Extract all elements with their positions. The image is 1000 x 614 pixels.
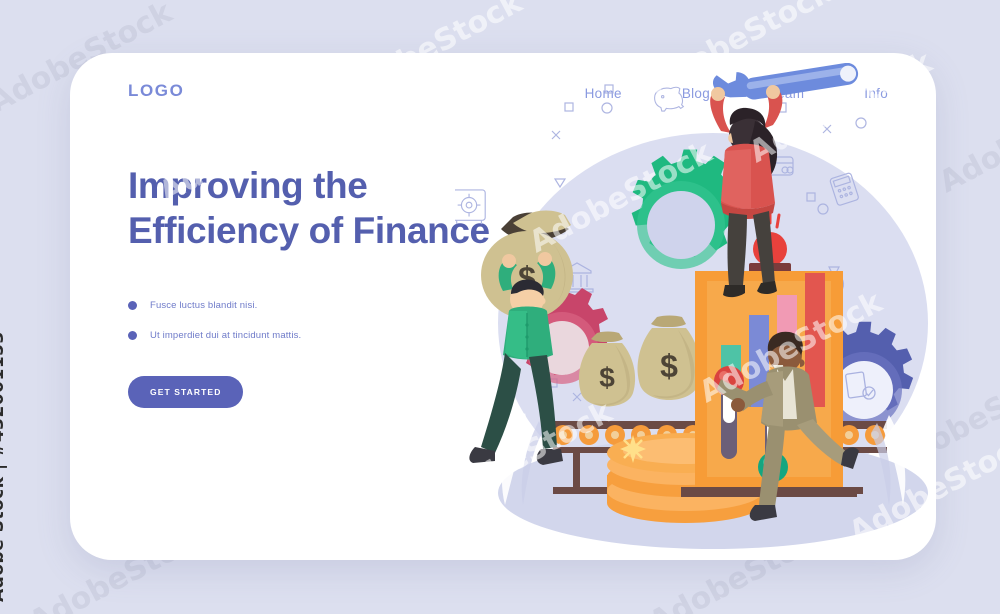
bullet-text: Fusce luctus blandit nisi.: [150, 300, 257, 311]
screenshot-canvas: AdobeStock AdobeStock AdobeStock AdobeSt…: [0, 0, 1000, 614]
bullet-dot-icon: [128, 331, 137, 340]
safe-box-icon: [455, 190, 485, 224]
page-title-line-2: Efficiency of Finance: [128, 210, 490, 251]
stock-watermark-id: Adobe Stock | #432001153: [0, 331, 8, 602]
svg-text:$: $: [660, 348, 678, 384]
page-title-line-1: Improving the: [128, 165, 367, 206]
get-started-button[interactable]: GET STARTED: [128, 376, 243, 408]
watermark-tile: AdobeStock: [934, 75, 1000, 200]
blue-wrench-icon: [712, 63, 860, 106]
svg-text:$: $: [599, 362, 615, 393]
logo[interactable]: LOGO: [128, 81, 184, 101]
piggy-bank-icon: [655, 87, 684, 111]
bullet-dot-icon: [128, 301, 137, 310]
hero-illustration: $ $ $: [455, 63, 936, 560]
landing-page-card: LOGO Home Blog Team Info Improving the E…: [70, 53, 936, 560]
bullet-text: Ut imperdiet dui at tincidunt mattis.: [150, 330, 301, 341]
